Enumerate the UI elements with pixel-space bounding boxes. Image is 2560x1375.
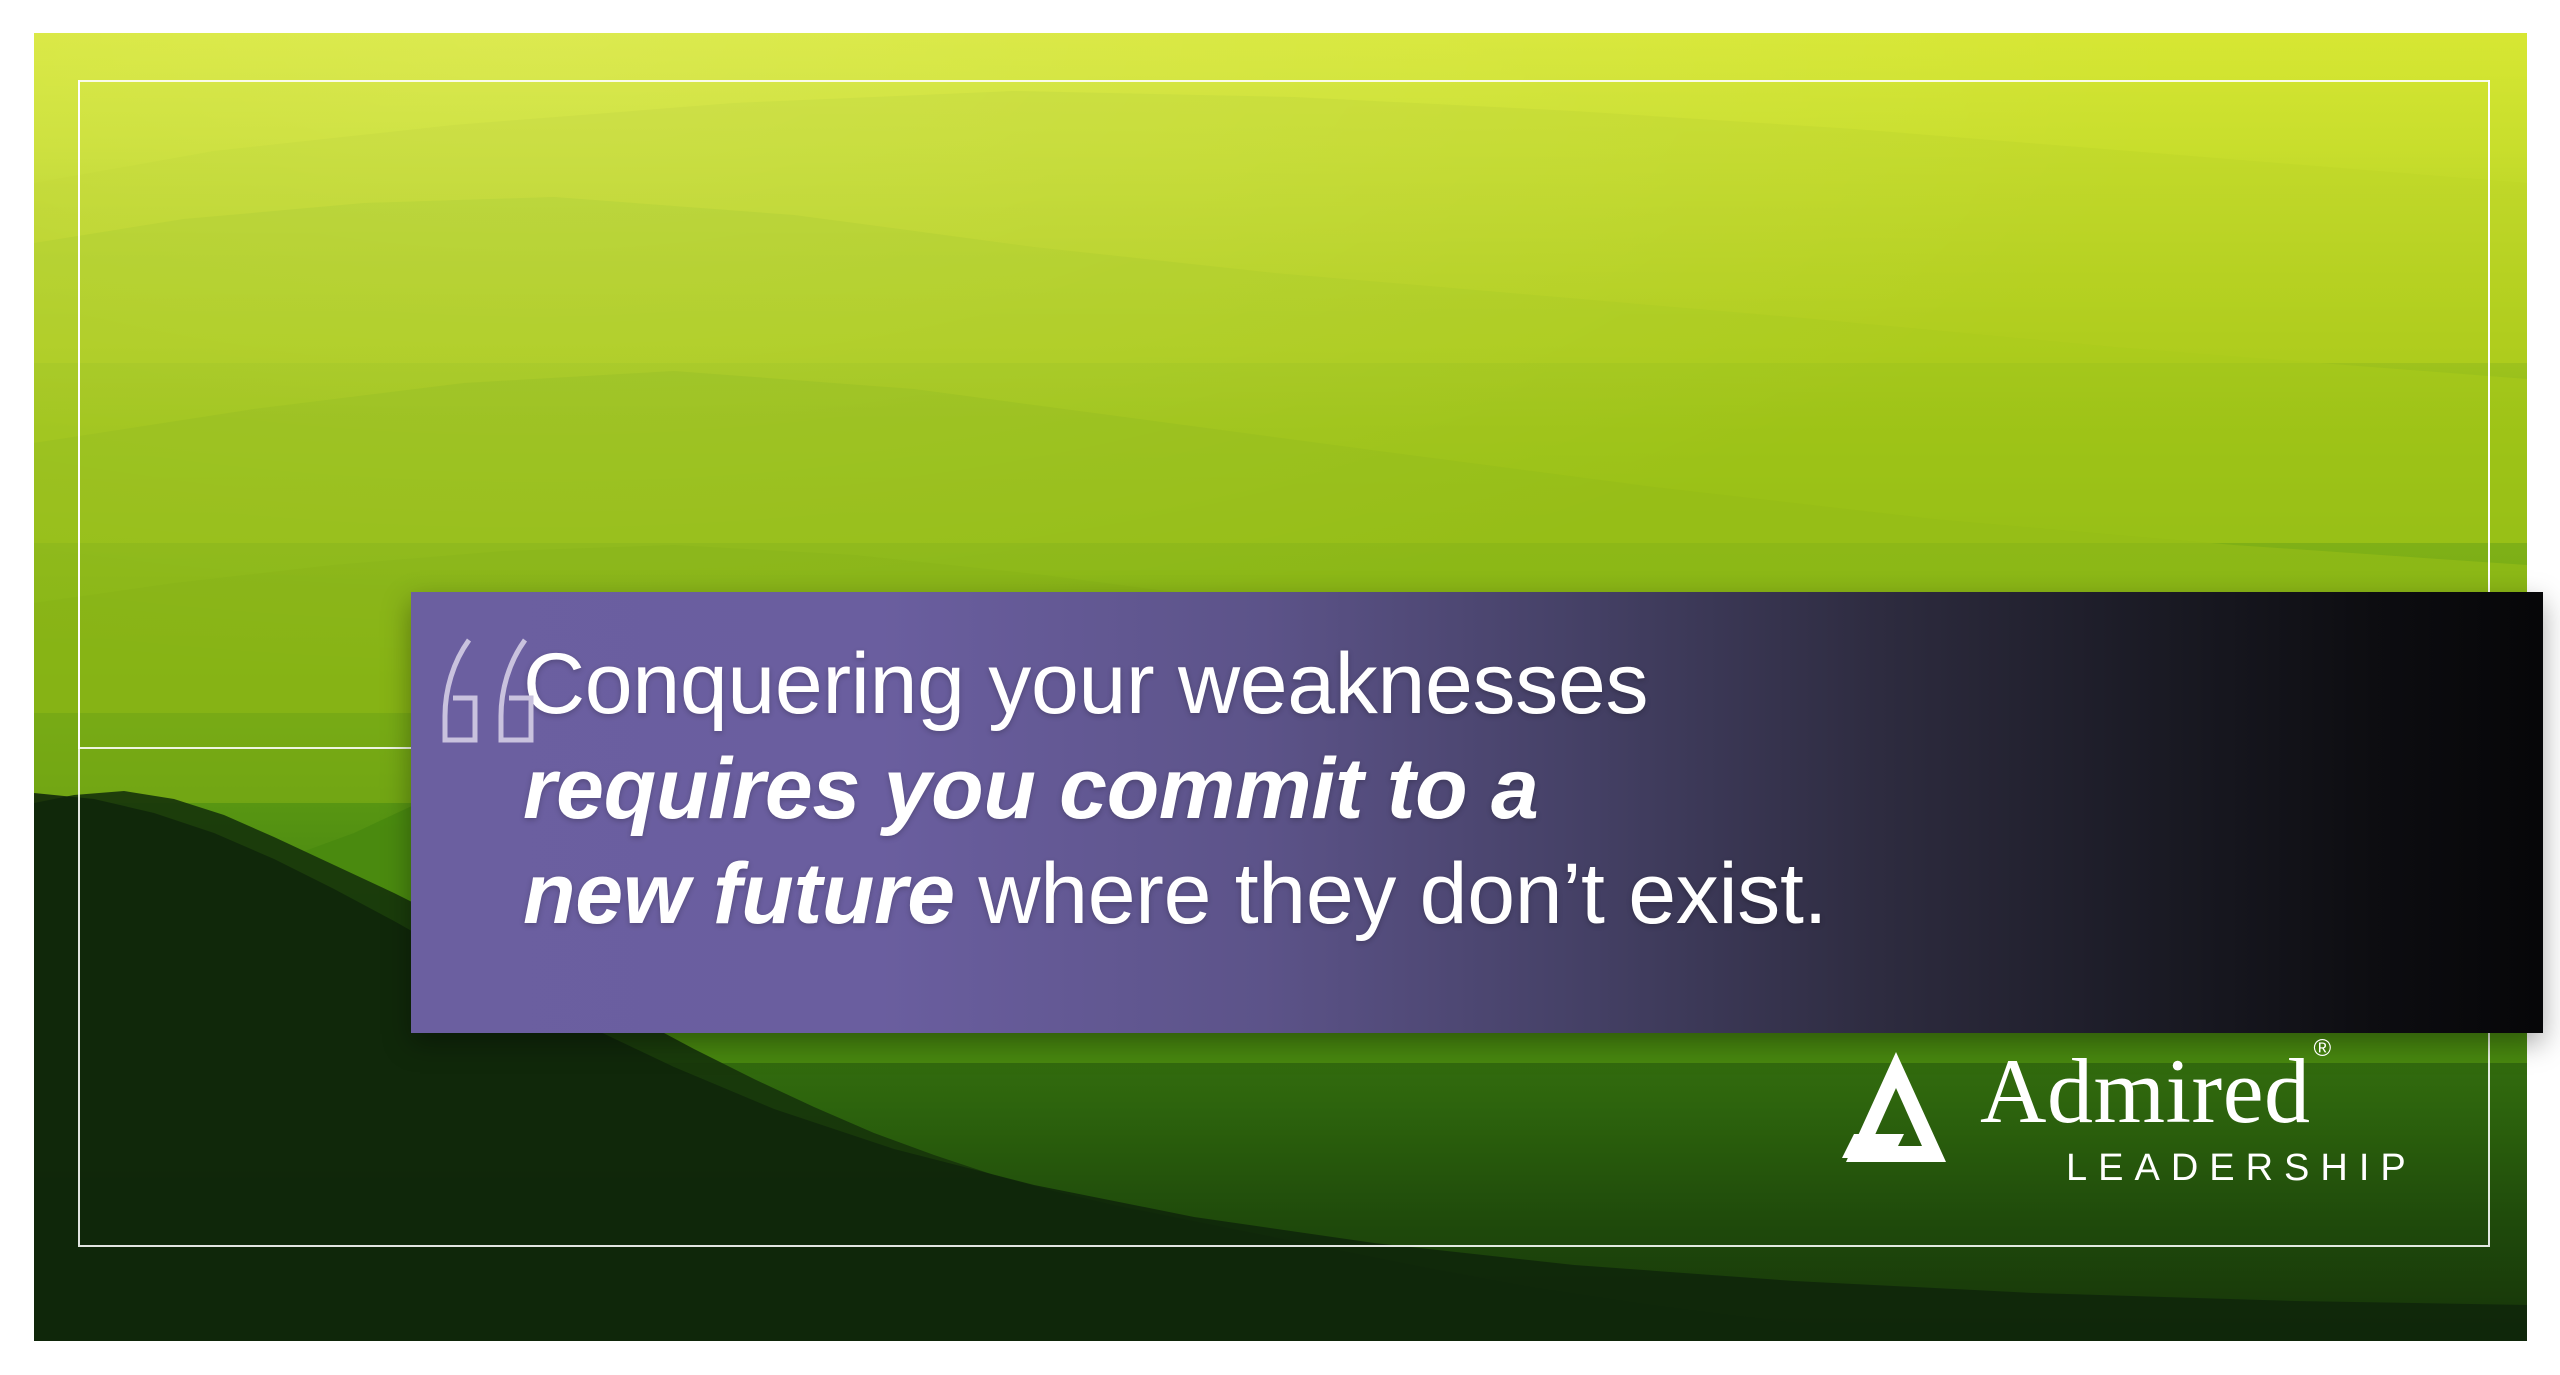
quote-card: Conquering your weaknesses requires you … bbox=[0, 0, 2560, 1375]
brand-lockup: Admired® LEADERSHIP bbox=[1842, 1048, 2417, 1190]
brand-name: Admired® bbox=[1980, 1048, 2417, 1135]
quote-banner: Conquering your weaknesses requires you … bbox=[411, 592, 2543, 1033]
quote-line-2: requires you commit to a bbox=[523, 737, 2543, 842]
quote-text: Conquering your weaknesses requires you … bbox=[523, 632, 2543, 947]
quote-line-3-plain: where they don’t exist. bbox=[955, 846, 1827, 942]
quote-line-1-plain: Conquering your weaknesses bbox=[523, 636, 1648, 732]
brand-tagline: LEADERSHIP bbox=[2066, 1147, 2417, 1190]
quote-line-1: Conquering your weaknesses bbox=[523, 632, 2543, 737]
brand-name-text: Admired bbox=[1980, 1040, 2311, 1142]
brand-text-block: Admired® LEADERSHIP bbox=[1980, 1048, 2417, 1190]
triangle-a-logo-icon bbox=[1842, 1048, 1950, 1166]
quote-line-3: new future where they don’t exist. bbox=[523, 842, 2543, 947]
quote-line-3-emphasis: new future bbox=[523, 846, 955, 942]
open-quote-icon bbox=[431, 636, 557, 746]
registered-trademark-icon: ® bbox=[2314, 1035, 2332, 1062]
quote-line-2-emphasis: requires you commit to a bbox=[523, 741, 1538, 837]
